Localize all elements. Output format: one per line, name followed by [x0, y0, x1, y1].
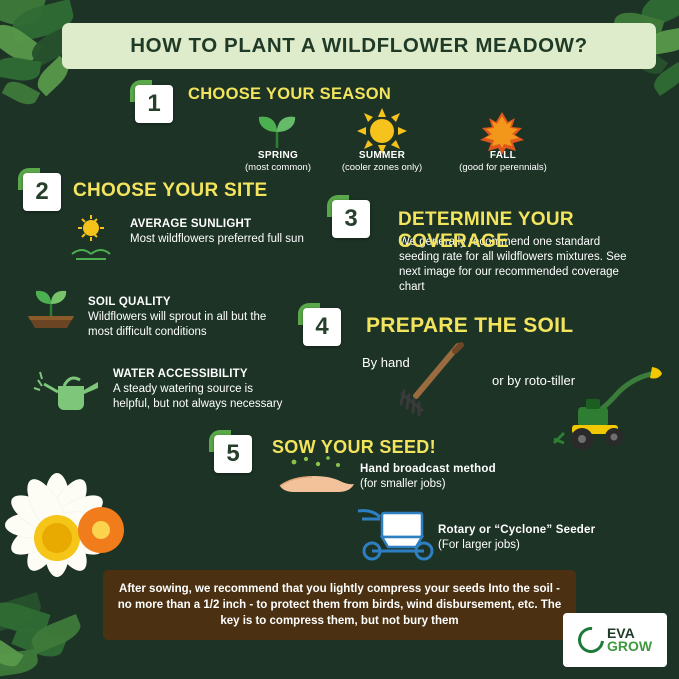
- rotary-spreader-icon: [352, 505, 440, 561]
- step-2-heading: CHOOSE YOUR SITE: [73, 180, 267, 202]
- step-4-heading: PREPARE THE SOIL: [366, 314, 573, 338]
- step-3-number: 3: [344, 205, 357, 233]
- roto-tiller-icon: [548, 363, 664, 453]
- rake-icon: [392, 344, 472, 416]
- season-spring-caption: SPRING (most common): [232, 150, 324, 174]
- brand-logo-line2: GROW: [607, 640, 652, 653]
- sprout-icon: [250, 112, 304, 150]
- water-text: A steady watering source is helpful, but…: [113, 382, 293, 412]
- leaf-circle-icon: [573, 622, 610, 659]
- hand-broadcast-note: (for smaller jobs): [360, 477, 530, 492]
- brand-logo-text: EVA GROW: [607, 627, 652, 653]
- maple-leaf-icon: [474, 110, 530, 154]
- rotary-seeder-note: (For larger jobs): [438, 538, 618, 553]
- page-title: HOW TO PLANT A WILDFLOWER MEADOW?: [62, 23, 656, 69]
- step-1-badge: 1: [135, 85, 173, 123]
- daisy-flower-decoration: [0, 455, 182, 665]
- sunlight-title: AVERAGE SUNLIGHT: [130, 218, 251, 230]
- step-5-heading: SOW YOUR SEED!: [272, 437, 436, 458]
- watering-can-icon: [34, 370, 104, 416]
- seedling-in-soil-icon: [20, 282, 82, 330]
- step-1-number: 1: [147, 90, 160, 118]
- sunlight-text: Most wildflowers preferred full sun: [130, 232, 305, 247]
- soil-text: Wildflowers will sprout in all but the m…: [88, 310, 278, 340]
- soil-title: SOIL QUALITY: [88, 296, 171, 308]
- step-2-number: 2: [35, 178, 48, 206]
- marigold-flower-decoration: [78, 507, 124, 553]
- sun-over-field-icon: [62, 214, 120, 260]
- step-3-heading: DETERMINE YOUR COVERAGE: [398, 209, 679, 253]
- footer-note-text: After sowing, we recommend that you ligh…: [117, 581, 562, 629]
- season-summer-caption: SUMMER (cooler zones only): [329, 150, 435, 174]
- step-5-number: 5: [226, 440, 239, 468]
- water-title: WATER ACCESSIBILITY: [113, 368, 248, 380]
- season-fall-caption: FALL (good for perennials): [449, 150, 557, 174]
- infographic-canvas: HOW TO PLANT A WILDFLOWER MEADOW? 1 CHOO…: [0, 0, 679, 679]
- sun-icon: [357, 108, 407, 154]
- page-title-text: HOW TO PLANT A WILDFLOWER MEADOW?: [130, 34, 587, 58]
- brand-logo: EVA GROW: [563, 613, 667, 667]
- step-4-number: 4: [315, 313, 328, 341]
- step-3-badge: 3: [332, 200, 370, 238]
- hand-sowing-icon: [276, 456, 360, 496]
- step-2-badge: 2: [23, 173, 61, 211]
- rotary-seeder-title: Rotary or “Cyclone” Seeder: [438, 524, 595, 536]
- step-5-badge: 5: [214, 435, 252, 473]
- step-1-heading: CHOOSE YOUR SEASON: [188, 85, 391, 104]
- hand-broadcast-title: Hand broadcast method: [360, 463, 496, 475]
- step-4-badge: 4: [303, 308, 341, 346]
